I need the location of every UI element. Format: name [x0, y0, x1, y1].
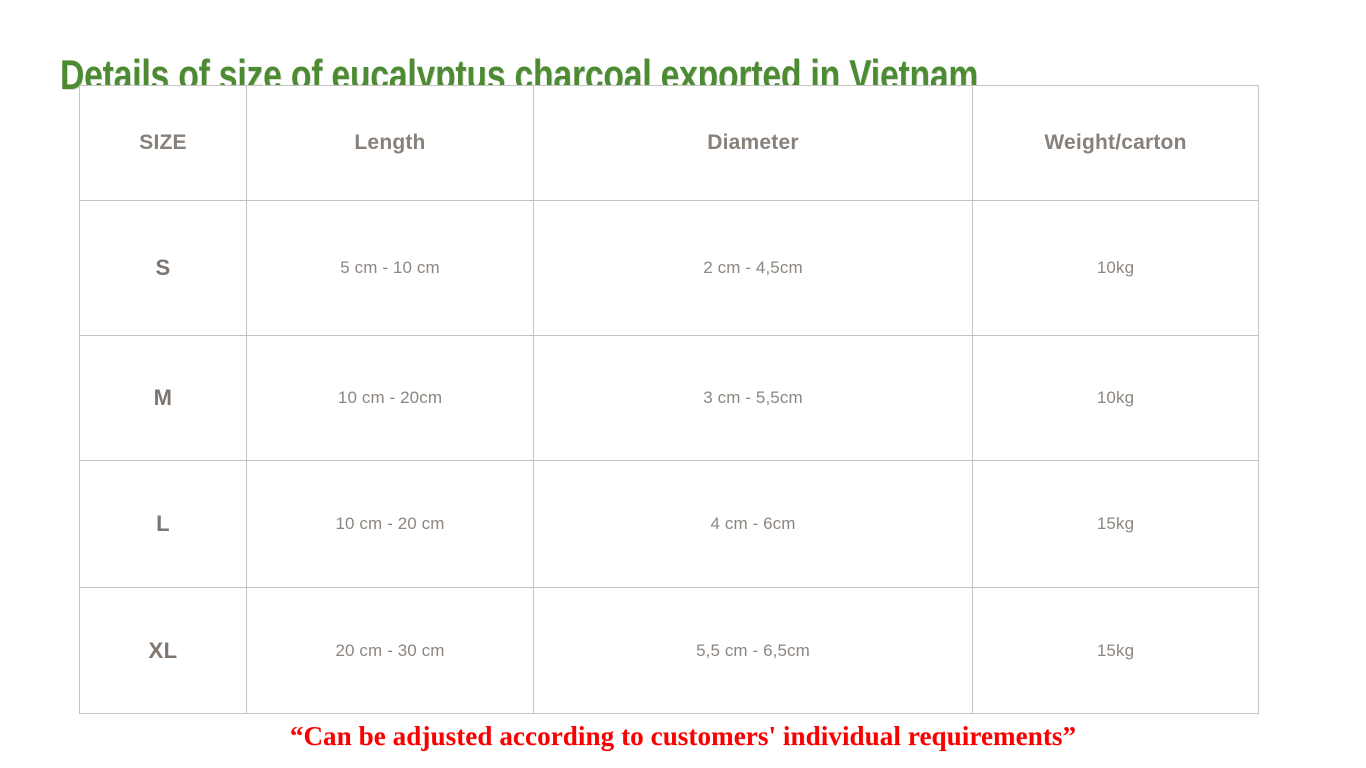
cell-length: 10 cm - 20 cm [247, 461, 534, 588]
cell-weight: 10kg [973, 336, 1259, 461]
column-header-length: Length [247, 86, 534, 201]
column-header-weight: Weight/carton [973, 86, 1259, 201]
table-header-row: SIZE Length Diameter Weight/carton [80, 86, 1259, 201]
cell-diameter: 5,5 cm - 6,5cm [534, 588, 973, 714]
table-row: S 5 cm - 10 cm 2 cm - 4,5cm 10kg [80, 201, 1259, 336]
cell-diameter: 2 cm - 4,5cm [534, 201, 973, 336]
cell-weight: 15kg [973, 461, 1259, 588]
cell-diameter: 4 cm - 6cm [534, 461, 973, 588]
table-header: SIZE Length Diameter Weight/carton [80, 86, 1259, 201]
cell-size: XL [80, 588, 247, 714]
table-row: L 10 cm - 20 cm 4 cm - 6cm 15kg [80, 461, 1259, 588]
cell-size: M [80, 336, 247, 461]
cell-weight: 10kg [973, 201, 1259, 336]
column-header-size: SIZE [80, 86, 247, 201]
footer-note: “Can be adjusted according to customers'… [0, 719, 1366, 753]
cell-length: 5 cm - 10 cm [247, 201, 534, 336]
table-body: S 5 cm - 10 cm 2 cm - 4,5cm 10kg M 10 cm… [80, 201, 1259, 714]
cell-size: L [80, 461, 247, 588]
cell-weight: 15kg [973, 588, 1259, 714]
cell-diameter: 3 cm - 5,5cm [534, 336, 973, 461]
column-header-diameter: Diameter [534, 86, 973, 201]
cell-size: S [80, 201, 247, 336]
table-row: M 10 cm - 20cm 3 cm - 5,5cm 10kg [80, 336, 1259, 461]
cell-length: 10 cm - 20cm [247, 336, 534, 461]
cell-length: 20 cm - 30 cm [247, 588, 534, 714]
table-row: XL 20 cm - 30 cm 5,5 cm - 6,5cm 15kg [80, 588, 1259, 714]
charcoal-size-table: SIZE Length Diameter Weight/carton S 5 c… [79, 85, 1259, 714]
